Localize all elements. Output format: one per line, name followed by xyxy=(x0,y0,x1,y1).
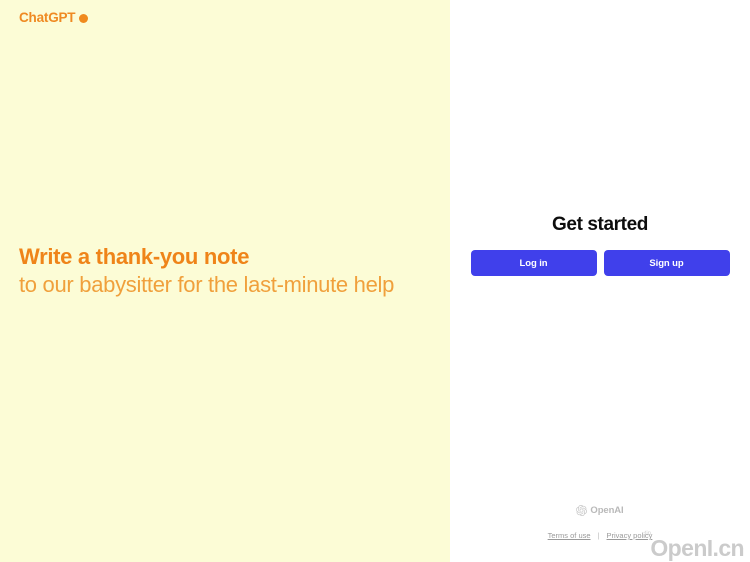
orange-dot-icon xyxy=(79,14,88,23)
legal-links: Terms of use | Privacy policy xyxy=(548,531,653,540)
promo-headline: Write a thank-you note to our babysitter… xyxy=(19,243,419,299)
chatgpt-wordmark: ChatGPT xyxy=(19,11,75,25)
signup-button[interactable]: Sign up xyxy=(604,250,730,276)
auth-cta-group: Get started Log in Sign up xyxy=(450,214,750,276)
promo-headline-rest: to our babysitter for the last-minute he… xyxy=(19,272,394,297)
privacy-policy-link[interactable]: Privacy policy xyxy=(607,531,653,540)
auth-button-row: Log in Sign up xyxy=(471,250,730,276)
chatgpt-welcome-page: ChatGPT Write a thank-you note to our ba… xyxy=(0,0,750,562)
page-footer: OpenAI Terms of use | Privacy policy xyxy=(450,505,750,540)
login-button[interactable]: Log in xyxy=(471,250,597,276)
openai-blossom-icon xyxy=(576,505,587,516)
chatgpt-brand-lockup[interactable]: ChatGPT xyxy=(19,11,88,25)
legal-separator: | xyxy=(598,531,600,540)
openai-wordmark: OpenAI xyxy=(590,506,623,516)
openai-lockup: OpenAI xyxy=(576,505,623,516)
promo-panel: ChatGPT Write a thank-you note to our ba… xyxy=(0,0,450,562)
get-started-title: Get started xyxy=(552,214,648,236)
terms-of-use-link[interactable]: Terms of use xyxy=(548,531,591,540)
promo-headline-strong: Write a thank-you note xyxy=(19,244,249,269)
auth-panel: Get started Log in Sign up OpenAI Terms … xyxy=(450,0,750,562)
